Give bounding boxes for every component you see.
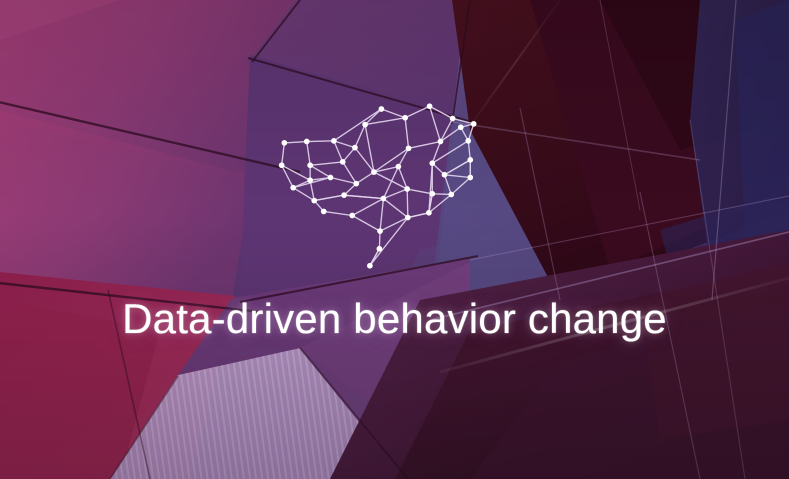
headline-container: Data-driven behavior change — [0, 296, 789, 341]
brain-network-icon — [268, 92, 488, 282]
hero-banner: Data-driven behavior change — [0, 0, 789, 479]
brain-network-edges — [282, 106, 474, 265]
page-title: Data-driven behavior change — [122, 296, 667, 341]
